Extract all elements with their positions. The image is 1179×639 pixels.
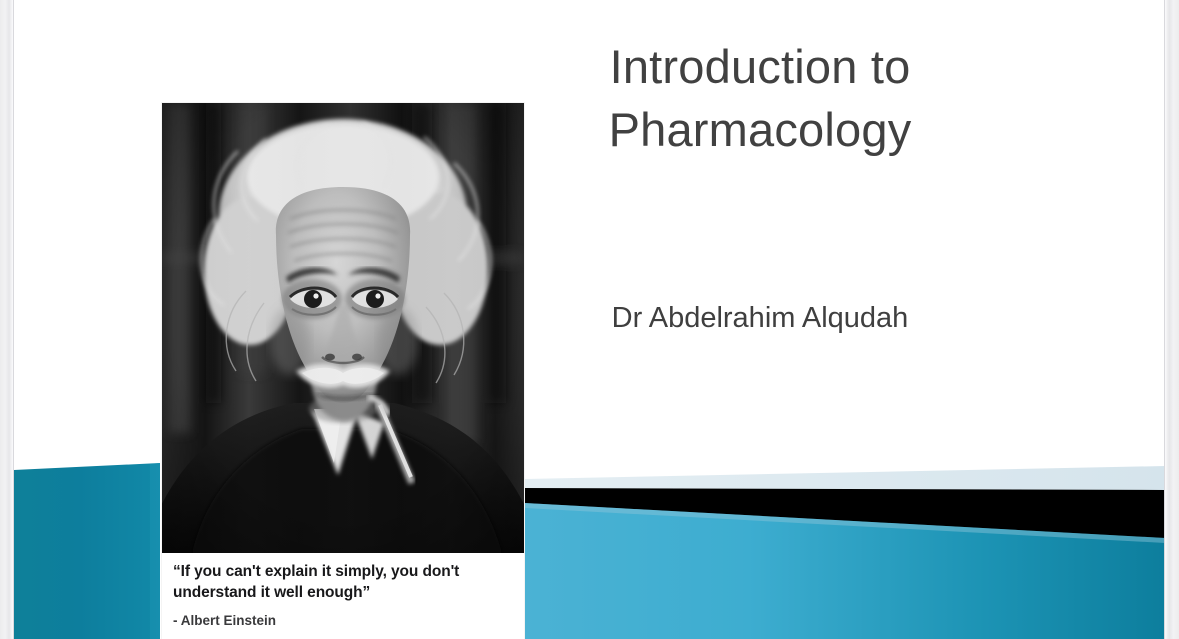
einstein-portrait-illustration (162, 103, 524, 553)
title-block: Introduction to Pharmacology (525, 36, 995, 161)
right-teal-band (525, 503, 1165, 639)
page-title: Introduction to Pharmacology (525, 36, 995, 161)
caption-attribution-text: - Albert Einstein (173, 613, 514, 628)
photo-caption: “If you can't explain it simply, you don… (162, 553, 524, 639)
page-edge-left (13, 0, 14, 639)
left-teal-band (14, 463, 160, 639)
caption-quote-text: “If you can't explain it simply, you don… (173, 562, 514, 604)
page-gutter-left (0, 0, 13, 639)
right-black-band (525, 488, 1165, 540)
page-gutter-right (1165, 0, 1179, 639)
right-pale-blue-band (525, 466, 1165, 492)
slide-canvas: “If you can't explain it simply, you don… (0, 0, 1179, 639)
einstein-portrait-photo (162, 103, 524, 553)
page-edge-right (1164, 0, 1165, 639)
author-name: Dr Abdelrahim Alqudah (525, 300, 995, 338)
subtitle-block: Dr Abdelrahim Alqudah (525, 300, 995, 338)
einstein-picture-card: “If you can't explain it simply, you don… (162, 103, 524, 639)
